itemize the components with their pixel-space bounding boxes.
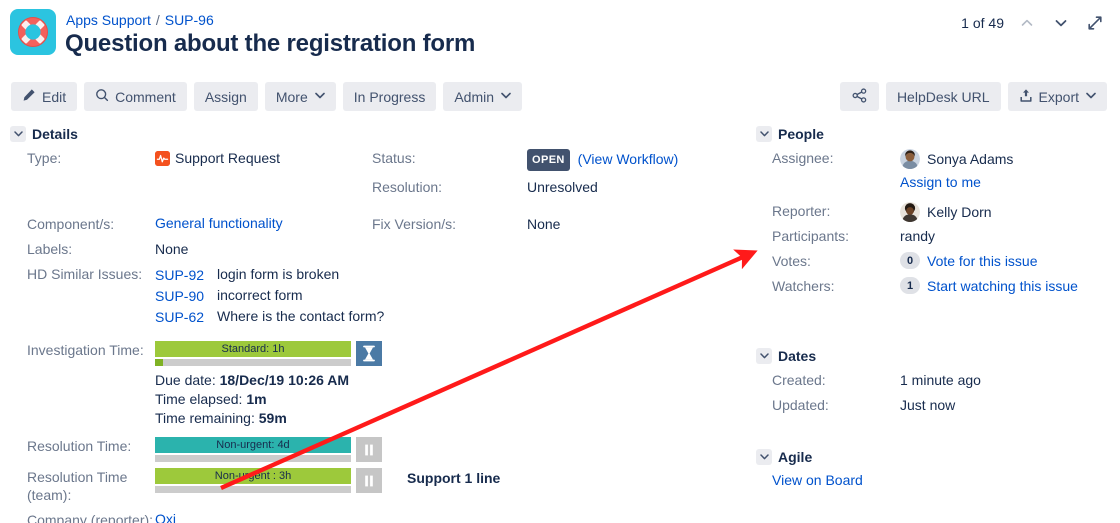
edit-label: Edit [42,89,66,105]
share-icon [852,88,867,106]
people-section-header[interactable]: People [752,126,1120,142]
resolution-value: Unresolved [527,178,598,196]
field-votes: Votes: 0 Vote for this issue [752,252,1120,277]
resolution-time-team-label: Resolution Time (team): [0,468,155,504]
field-watchers: Watchers: 1 Start watching this issue [752,277,1120,302]
comment-button[interactable]: Comment [84,82,187,111]
people-section-title: People [778,126,824,142]
resolution-team-sla-bars: Non-urgent : 3h [155,468,351,493]
similar-issue-key[interactable]: SUP-90 [155,286,217,307]
status-value-wrap: OPEN (View Workflow) [527,149,678,171]
resolution-sla-goal: Non-urgent: 4d [155,437,351,453]
jira-issue-view: Apps Support/SUP-96 Question about the r… [0,0,1120,523]
votes-count-badge: 0 [900,252,920,269]
assign-button[interactable]: Assign [194,82,258,111]
resolution-time-team-label-line1: Resolution Time [27,468,155,486]
chevron-down-icon [315,91,325,102]
component-link[interactable]: General functionality [155,215,283,231]
pause-icon[interactable] [356,468,382,493]
list-item: SUP-90 incorrect form [155,286,746,307]
investigation-sla-fill [155,359,163,366]
type-label: Type: [0,149,155,167]
breadcrumb-project-link[interactable]: Apps Support [66,12,151,28]
agile-section-title: Agile [778,449,812,465]
comment-label: Comment [115,89,176,105]
pager-count: 1 of 49 [961,15,1004,31]
breadcrumb-separator: / [156,12,160,28]
chevron-down-icon [756,348,772,364]
resolution-sla-bars: Non-urgent: 4d [155,437,351,462]
due-date-value: 18/Dec/19 10:26 AM [220,372,349,388]
similar-issue-summary: incorrect form [217,286,303,307]
watchers-label: Watchers: [752,277,900,295]
edit-button[interactable]: Edit [11,82,77,111]
admin-label: Admin [454,89,494,105]
view-on-board-link[interactable]: View on Board [772,472,863,488]
agile-links: View on Board [752,472,1120,490]
watchers-value: 1 Start watching this issue [900,277,1120,294]
hourglass-icon[interactable] [356,341,382,366]
time-elapsed-label: Time elapsed: [155,391,242,407]
assign-to-me-value: Assign to me [900,174,1120,190]
list-item: SUP-62 Where is the contact form? [155,307,746,328]
support-line-note: Support 1 line [407,470,500,486]
export-label: Export [1039,89,1079,105]
issue-pager: 1 of 49 [961,12,1106,34]
field-fix-versions: Fix Version/s: None [372,215,746,233]
sidebar-modules: People Assignee: Sonya Adams Assign [752,126,1120,490]
investigation-sla: Standard: 1h [155,341,746,366]
details-section-title: Details [32,126,78,142]
field-components: Component/s: General functionality [0,215,372,233]
share-button[interactable] [840,82,879,111]
assignee-name: Sonya Adams [927,150,1013,168]
pause-icon[interactable] [356,437,382,462]
similar-issue-key[interactable]: SUP-62 [155,307,217,328]
field-similar-issues: HD Similar Issues: SUP-92 login form is … [0,265,746,328]
breadcrumb: Apps Support/SUP-96 [66,11,214,29]
view-workflow-link[interactable]: (View Workflow) [578,151,679,167]
pencil-icon [22,88,36,105]
in-progress-button[interactable]: In Progress [343,82,437,111]
field-company-reporter: Company (reporter): Oxi [0,511,746,523]
field-labels: Labels: None [0,240,746,258]
time-elapsed-value: 1m [246,391,266,407]
more-button[interactable]: More [265,82,336,111]
start-watching-link[interactable]: Start watching this issue [927,278,1078,294]
assignee-label: Assignee: [752,149,900,167]
similar-issue-key[interactable]: SUP-92 [155,265,217,286]
investigation-sla-bars: Standard: 1h [155,341,351,366]
details-module: Details Type: Support Reques [0,126,746,523]
chevron-down-icon [756,449,772,465]
project-avatar[interactable] [10,9,56,55]
similar-issues-label: HD Similar Issues: [0,265,155,283]
lifebuoy-icon [16,15,50,49]
resolution-team-sla-goal: Non-urgent : 3h [155,468,351,484]
details-section-header[interactable]: Details [0,126,746,142]
type-value: Support Request [175,150,280,166]
resolution-sla-track [155,455,351,462]
resolution-label: Resolution: [372,178,527,196]
agile-section-header[interactable]: Agile [752,449,1120,465]
components-label: Component/s: [0,215,155,233]
participants-label: Participants: [752,227,900,245]
in-progress-label: In Progress [354,89,426,105]
resolution-time-value: Non-urgent: 4d [155,437,746,462]
assign-to-me-row: Assign to me [752,174,1120,196]
time-remaining-value: 59m [259,410,287,426]
issue-toolbar-right: HelpDesk URL Export [840,82,1107,111]
admin-button[interactable]: Admin [443,82,522,111]
export-icon [1019,88,1033,106]
labels-value: None [155,240,746,258]
reporter-value: Kelly Dorn [900,202,1120,222]
avatar[interactable] [900,149,920,169]
dates-section-title: Dates [778,348,816,364]
export-button[interactable]: Export [1008,82,1107,111]
chevron-down-icon [756,126,772,142]
resolution-time-team-value: Non-urgent : 3h Support 1 line [155,468,746,493]
support-request-icon [155,151,170,166]
created-label: Created: [752,371,900,389]
similar-issues-list: SUP-92 login form is broken SUP-90 incor… [155,265,746,328]
assignee-value: Sonya Adams [900,149,1120,169]
votes-value: 0 Vote for this issue [900,252,1120,269]
issue-header: Apps Support/SUP-96 Question about the r… [0,0,1120,74]
field-status: Status: OPEN (View Workflow) [372,149,746,171]
field-resolution: Resolution: Unresolved [372,178,746,196]
watchers-count-badge: 1 [900,277,920,294]
due-date-label: Due date: [155,372,216,388]
chevron-down-icon[interactable] [1050,12,1072,34]
company-reporter-label: Company (reporter): [0,511,155,523]
helpdesk-url-label: HelpDesk URL [897,89,990,105]
breadcrumb-issue-link[interactable]: SUP-96 [165,12,214,28]
status-label: Status: [372,149,527,167]
labels-label: Labels: [0,240,155,258]
due-date-row: Due date: 18/Dec/19 10:26 AM [155,371,746,390]
field-created: Created: 1 minute ago [752,371,1120,396]
resolution-sla: Non-urgent: 4d [155,437,746,462]
field-type: Type: Support Request [0,149,372,167]
chevron-down-icon [1086,91,1096,102]
page-title: Question about the registration form [65,29,475,59]
investigation-time-label: Investigation Time: [0,341,155,359]
status-badge: OPEN [527,149,570,171]
field-investigation-time: Investigation Time: Standard: 1h [0,341,746,428]
details-fields: Type: Support Request [0,149,746,523]
field-resolution-time-team: Resolution Time (team): Non-urgent : 3h [0,468,746,504]
components-value-wrap: General functionality [155,215,372,233]
similar-issue-summary: Where is the contact form? [217,307,384,328]
vote-for-issue-link[interactable]: Vote for this issue [927,253,1038,269]
updated-value: Just now [900,396,1120,414]
field-reporter: Reporter: Kelly Dorn [752,202,1120,227]
field-updated: Updated: Just now [752,396,1120,421]
resolution-team-sla-track [155,486,351,493]
fix-versions-value: None [527,215,560,233]
chevron-up-icon[interactable] [1016,12,1038,34]
time-remaining-row: Time remaining: 59m [155,409,746,428]
investigation-sla-goal: Standard: 1h [155,341,351,357]
reporter-label: Reporter: [752,202,900,220]
time-remaining-label: Time remaining: [155,410,255,426]
created-value: 1 minute ago [900,371,1120,389]
list-item: SUP-92 login form is broken [155,265,746,286]
helpdesk-url-button[interactable]: HelpDesk URL [886,82,1001,111]
investigation-time-value: Standard: 1h Due [155,341,746,428]
field-resolution-time: Resolution Time: Non-urgent: 4d [0,437,746,462]
company-link[interactable]: Oxi [155,511,176,523]
resolution-time-team-label-line2: (team): [27,486,155,504]
dates-section-header[interactable]: Dates [752,348,1120,364]
field-assignee: Assignee: Sonya Adams [752,149,1120,174]
resolution-team-sla: Non-urgent : 3h Support 1 line [155,468,746,493]
issue-toolbar: Edit Comment Assign More In Progress Adm… [11,82,522,111]
type-value-wrap: Support Request [155,149,372,167]
assign-label: Assign [205,89,247,105]
time-elapsed-row: Time elapsed: 1m [155,390,746,409]
avatar[interactable] [900,202,920,222]
assign-to-me-link[interactable]: Assign to me [900,174,981,190]
fix-versions-label: Fix Version/s: [372,215,527,233]
updated-label: Updated: [752,396,900,414]
company-reporter-value-wrap: Oxi [155,511,746,523]
chevron-down-icon [10,126,26,142]
reporter-name: Kelly Dorn [927,203,992,221]
chevron-down-icon [501,91,511,102]
field-participants: Participants: randy [752,227,1120,252]
expand-icon[interactable] [1084,12,1106,34]
investigation-sla-track [155,359,351,366]
more-label: More [276,89,308,105]
votes-label: Votes: [752,252,900,270]
comment-icon [95,88,109,105]
similar-issue-summary: login form is broken [217,265,339,286]
participants-value: randy [900,227,1120,245]
resolution-time-label: Resolution Time: [0,437,155,455]
